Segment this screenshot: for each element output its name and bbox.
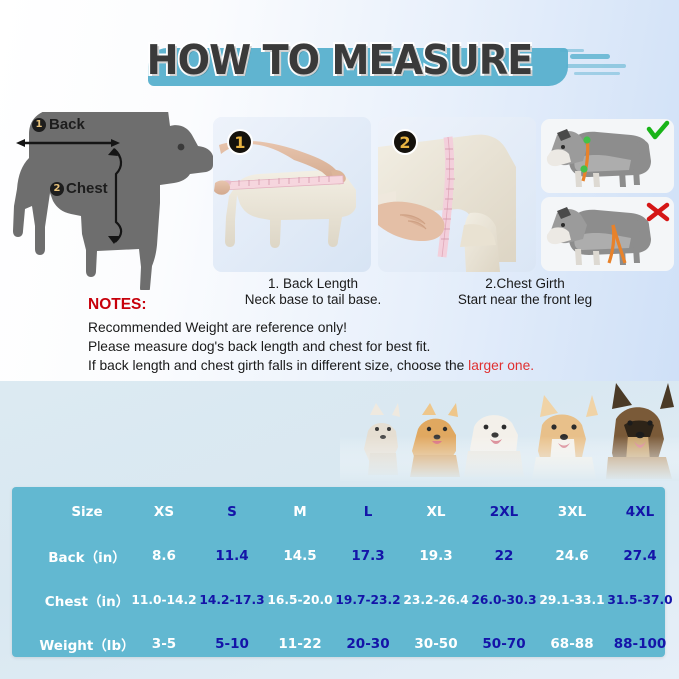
notes-body: Recommended Weight are reference only! P…	[88, 318, 648, 375]
caption-chest-girth-title: 2.Chest Girth	[420, 276, 630, 292]
back-measure-arrow	[2, 112, 214, 290]
badge-one-icon: 1	[32, 118, 46, 132]
notes-line-1: Recommended Weight are reference only!	[88, 318, 648, 337]
caption-back-length: 1. Back Length Neck base to tail base.	[218, 276, 408, 308]
incorrect-dog-illustration	[541, 197, 674, 271]
table-row-weightlb: Weight（lb）3-55-1011-2220-3030-5050-7068-…	[12, 625, 665, 663]
correct-position-photo	[541, 119, 674, 193]
table-row-backin: Back（in）8.611.414.517.319.32224.627.4	[12, 537, 665, 575]
size-chart-section: SizeXSSMLXL2XL3XL4XL Back（in）8.611.414.5…	[0, 381, 679, 679]
chest-girth-photo: 2	[378, 117, 536, 272]
badge-two-icon: 2	[392, 129, 418, 155]
table-cell: 31.5-37.0	[595, 593, 679, 607]
caption-chest-girth-sub: Start near the front leg	[420, 292, 630, 308]
chest-measure-label: 2 Chest	[50, 180, 108, 197]
top-info-section: HOW TO MEASURE 1 Back 2 Chest	[0, 0, 679, 381]
notes-line-3-text: If back length and chest girth falls in …	[88, 358, 468, 373]
table-header-cell: 4XL	[595, 504, 679, 520]
page-title-banner: HOW TO MEASURE	[0, 36, 679, 98]
notes-line-3: If back length and chest girth falls in …	[88, 356, 648, 375]
notes-title: NOTES:	[88, 296, 147, 314]
back-label-text: Back	[49, 116, 85, 133]
size-chart-table: SizeXSSMLXL2XL3XL4XL Back（in）8.611.414.5…	[12, 487, 665, 657]
table-row-size: SizeXSSMLXL2XL3XL4XL	[12, 493, 665, 531]
badge-one-icon: 1	[227, 129, 253, 155]
notes-line-3-highlight: larger one.	[468, 358, 534, 373]
back-length-photo: 1	[213, 117, 371, 272]
table-row-chestin: Chest（in）11.0-14.214.2-17.316.5-20.019.7…	[12, 581, 665, 619]
table-cell: 27.4	[595, 548, 679, 564]
correct-dog-illustration	[541, 119, 674, 193]
dog-lineup-illustration	[340, 381, 679, 481]
chest-label-text: Chest	[66, 180, 108, 197]
caption-back-length-sub: Neck base to tail base.	[218, 292, 408, 308]
caption-back-length-title: 1. Back Length	[218, 276, 408, 292]
back-measure-label: 1 Back	[32, 116, 85, 133]
caption-chest-girth: 2.Chest Girth Start near the front leg	[420, 276, 630, 308]
dog-measurement-diagram: 1 Back 2 Chest	[2, 112, 214, 290]
dog-size-photo-strip	[340, 381, 679, 481]
incorrect-position-photo	[541, 197, 674, 271]
page-title: HOW TO MEASURE	[24, 36, 655, 84]
badge-two-icon: 2	[50, 182, 64, 196]
table-cell: 88-100	[595, 636, 679, 652]
notes-line-2: Please measure dog's back length and che…	[88, 337, 648, 356]
